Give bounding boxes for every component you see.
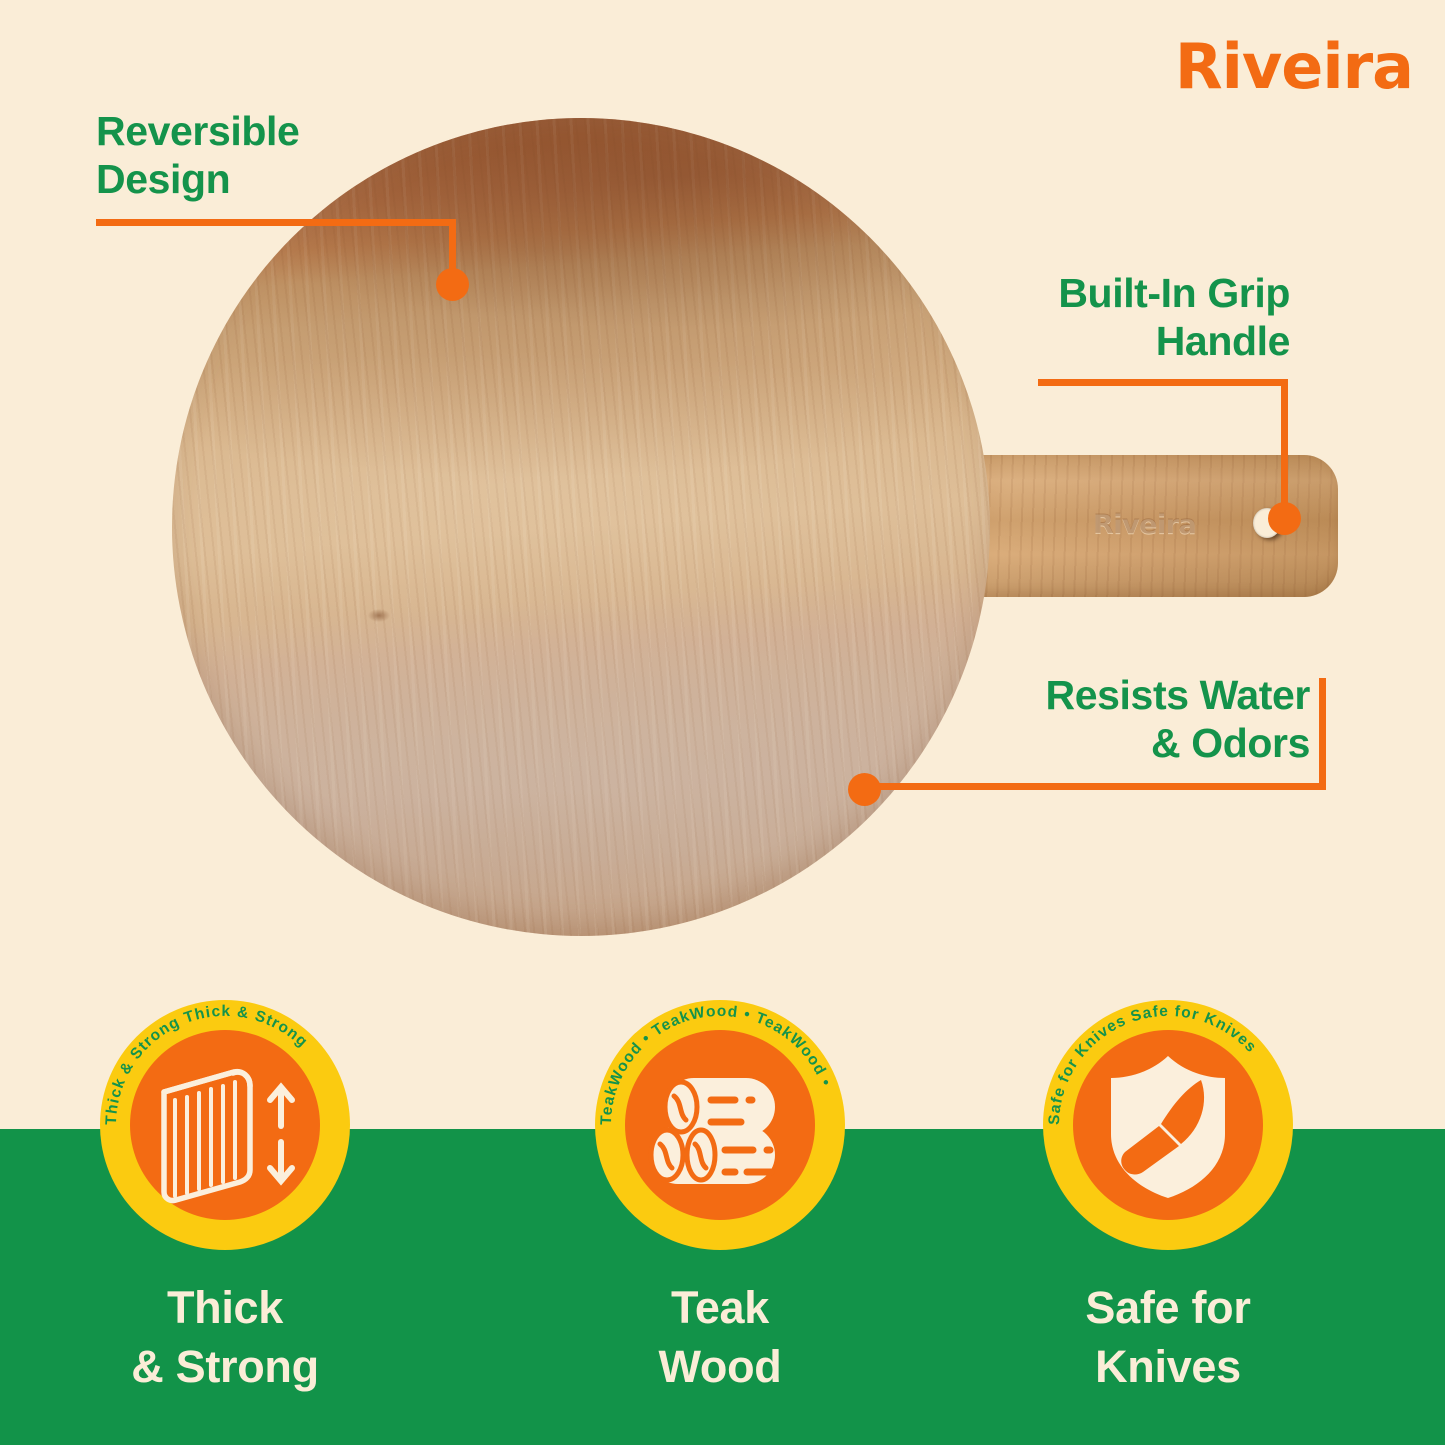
callout-line-2: Handle — [960, 318, 1290, 366]
leader-dot-3 — [848, 773, 881, 806]
handle-engraved-logo: Riveira — [1093, 508, 1253, 542]
caption-line-1: Safe for — [1003, 1278, 1333, 1337]
leader-line-horizontal-1 — [96, 219, 456, 226]
caption-thick-and-strong: Thick & Strong — [60, 1278, 390, 1397]
wood-color-bands — [172, 118, 990, 936]
caption-line-1: Thick — [60, 1278, 390, 1337]
board-round-surface — [172, 118, 990, 936]
caption-teak-wood: Teak Wood — [555, 1278, 885, 1397]
infographic-canvas: Riveira Riveira Reversible Design Built-… — [0, 0, 1445, 1445]
callout-reversible-design: Reversible Design — [96, 108, 516, 203]
leader-line-vertical-3 — [1319, 678, 1326, 790]
leader-dot-1 — [436, 268, 469, 301]
caption-line-2: Wood — [555, 1337, 885, 1396]
shield-knife-icon — [1073, 1030, 1263, 1220]
wood-logs-icon — [625, 1030, 815, 1220]
leader-dot-2 — [1268, 502, 1301, 535]
caption-line-2: & Strong — [60, 1337, 390, 1396]
leader-line-horizontal-3 — [866, 783, 1322, 790]
caption-line-1: Teak — [555, 1278, 885, 1337]
wood-knot — [368, 609, 390, 622]
callout-line-2: & Odors — [900, 720, 1310, 768]
caption-line-2: Knives — [1003, 1337, 1333, 1396]
callout-line-1: Reversible — [96, 108, 516, 156]
badge-thick-and-strong: Thick & Strong Thick & Strong — [100, 1000, 350, 1250]
callout-line-2: Design — [96, 156, 516, 204]
badge-safe-for-knives: Safe for Knives Safe for Knives — [1043, 1000, 1293, 1250]
callout-line-1: Resists Water — [900, 672, 1310, 720]
badge-teak-wood: TeakWood • TeakWood • TeakWood • — [595, 1000, 845, 1250]
board-thickness-icon — [130, 1030, 320, 1220]
leader-line-horizontal-2 — [1038, 379, 1288, 386]
callout-line-1: Built-In Grip — [960, 270, 1290, 318]
callout-resists-water-and-odors: Resists Water & Odors — [900, 672, 1310, 767]
callout-built-in-grip-handle: Built-In Grip Handle — [960, 270, 1290, 365]
leader-line-vertical-2 — [1281, 379, 1288, 511]
caption-safe-for-knives: Safe for Knives — [1003, 1278, 1333, 1397]
